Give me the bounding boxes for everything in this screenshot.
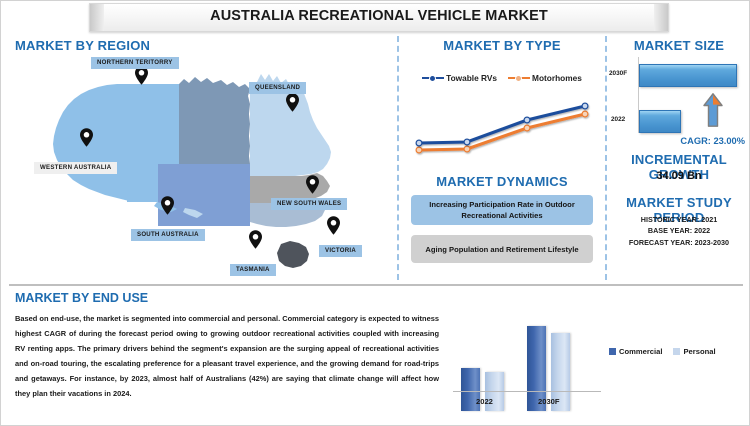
cagr-value: CAGR: 23.00%: [680, 136, 745, 146]
study-period-base: BASE YEAR: 2022: [607, 225, 750, 236]
market-size-bar-2022: [639, 110, 681, 133]
market-dynamics-item-driver[interactable]: Increasing Participation Rate in Outdoor…: [411, 195, 593, 225]
map-region-tasmania: [277, 241, 309, 268]
map-label-new-south-wales: NEW SOUTH WALES: [271, 198, 347, 210]
map-pin-south-australia[interactable]: [161, 196, 174, 215]
market-by-end-use-title: MARKET BY END USE: [15, 291, 148, 305]
page-title: AUSTRALIA RECREATIONAL VEHICLE MARKET: [90, 8, 668, 24]
study-period-historic: HISTORIC YEAR: 2021: [607, 214, 750, 225]
map-label-south-australia: SOUTH AUSTRALIA: [131, 229, 205, 241]
map-pin-victoria[interactable]: [327, 216, 340, 235]
map-pin-western-australia[interactable]: [80, 128, 93, 147]
line-chart-legend: Towable RVs Motorhomes: [399, 73, 605, 83]
map-label-northern-territory: NORTHERN TERITORRY: [91, 57, 179, 69]
bar-category-2030f: 2030F: [538, 397, 560, 406]
legend-swatch-personal: [673, 348, 680, 355]
market-by-end-use-panel: MARKET BY END USE Based on end-use, the …: [1, 287, 750, 425]
legend-label-motorhomes: Motorhomes: [532, 73, 582, 83]
legend-label-personal: Personal: [683, 347, 715, 356]
market-size-bar-2030f: [639, 64, 737, 87]
market-study-period-lines: HISTORIC YEAR: 2021 BASE YEAR: 2022 FORE…: [607, 214, 750, 248]
market-size-bar-label-2022: 2022: [611, 116, 625, 123]
map-pin-tasmania[interactable]: [249, 230, 262, 249]
map-label-tasmania: TASMANIA: [230, 264, 276, 276]
legend-item-motorhomes[interactable]: Motorhomes: [508, 73, 582, 83]
market-size-bar-label-2030f: 2030F: [609, 70, 627, 77]
market-by-type-title: MARKET BY TYPE: [399, 38, 605, 53]
legend-marker-towable-rvs: [422, 74, 444, 82]
end-use-bar-axis: [453, 391, 601, 392]
section-divider: [9, 284, 743, 286]
map-pin-new-south-wales[interactable]: [306, 175, 319, 194]
map-label-victoria: VICTORIA: [319, 245, 362, 257]
map-label-queensland: QUEENSLAND: [249, 82, 306, 94]
market-by-type-panel: MARKET BY TYPE Towable RVs Motorhomes: [399, 32, 605, 283]
legend-item-commercial[interactable]: Commercial: [609, 347, 662, 356]
market-size-panel: MARKET SIZE 2030F 2022 CAGR: 23.00% INCR…: [607, 32, 750, 283]
market-dynamics-title: MARKET DYNAMICS: [399, 174, 605, 189]
map-region-south-australia: [158, 164, 250, 226]
end-use-legend: Commercial Personal: [609, 347, 716, 356]
series-towable-rvs: [416, 103, 588, 146]
market-by-type-line-chart: [407, 98, 597, 164]
market-by-region-title: MARKET BY REGION: [15, 38, 150, 53]
map-pin-queensland[interactable]: [286, 93, 299, 112]
growth-arrow-up-icon: [702, 92, 724, 128]
study-period-forecast: FORECAST YEAR: 2023-2030: [607, 237, 750, 248]
map-label-western-australia: WESTERN AUSTRALIA: [34, 162, 117, 174]
market-size-title: MARKET SIZE: [607, 38, 750, 53]
end-use-bar-chart: [447, 299, 607, 411]
title-banner: AUSTRALIA RECREATIONAL VEHICLE MARKET: [89, 3, 669, 32]
upper-panel: MARKET BY REGION: [1, 32, 750, 283]
infographic-page: AUSTRALIA RECREATIONAL VEHICLE MARKET MA…: [0, 0, 750, 426]
legend-label-towable-rvs: Towable RVs: [446, 73, 497, 83]
market-by-end-use-body: Based on end-use, the market is segmente…: [15, 311, 439, 401]
legend-marker-motorhomes: [508, 74, 530, 82]
legend-label-commercial: Commercial: [619, 347, 662, 356]
legend-item-towable-rvs[interactable]: Towable RVs: [422, 73, 497, 83]
legend-item-personal[interactable]: Personal: [673, 347, 715, 356]
incremental-growth-value: 34.09 Bn: [607, 170, 750, 182]
legend-swatch-commercial: [609, 348, 616, 355]
series-motorhomes: [416, 111, 588, 153]
bar-category-2022: 2022: [476, 397, 493, 406]
map-region-northern-territory: [179, 77, 250, 164]
australia-map: NORTHERN TERITORRY QUEENSLAND WESTERN AU…: [9, 52, 394, 280]
market-dynamics-item-trend[interactable]: Aging Population and Retirement Lifestyl…: [411, 235, 593, 263]
